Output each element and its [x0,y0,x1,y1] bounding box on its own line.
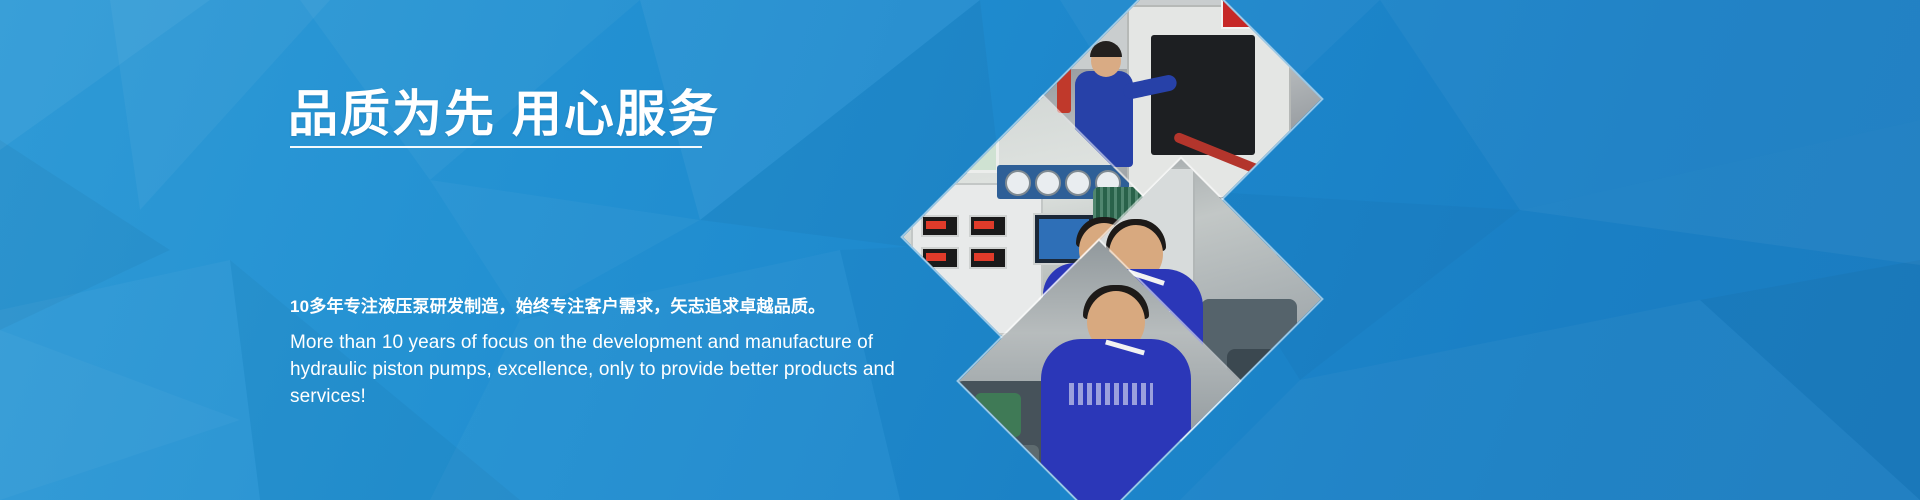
green-part [975,393,1021,437]
assembly-parts-secondary [965,445,1039,500]
digital-meter [921,215,959,237]
banner-copy-block: 品质为先 用心服务 10多年专注液压泵研发制造，始终专注客户需求，矢志追求卓越品… [288,0,928,500]
pressure-gauge [1035,170,1061,196]
pressure-gauge [1005,170,1031,196]
red-push-button [955,299,969,313]
pressure-gauge [1065,170,1091,196]
photo-collage [878,0,1288,500]
banner-subtitle-chinese: 10多年专注液压泵研发制造，始终专注客户需求，矢志追求卓越品质。 [290,292,825,317]
red-pipe [1057,0,1071,113]
worker-body-uniform [1041,339,1191,500]
warning-sign [1221,0,1259,29]
promo-banner: 品质为先 用心服务 10多年专注液压泵研发制造，始终专注客户需求，矢志追求卓越品… [0,0,1920,500]
digital-meter [969,215,1007,237]
digital-meter [921,247,959,269]
digital-meter [969,247,1007,269]
banner-subtitle-english: More than 10 years of focus on the devel… [290,330,922,411]
green-push-button [933,299,947,313]
window [915,101,999,173]
machine-screen [1151,35,1255,155]
headline-underline [290,146,702,148]
uniform-print [1069,383,1153,405]
banner-headline: 品质为先 用心服务 [288,86,720,142]
